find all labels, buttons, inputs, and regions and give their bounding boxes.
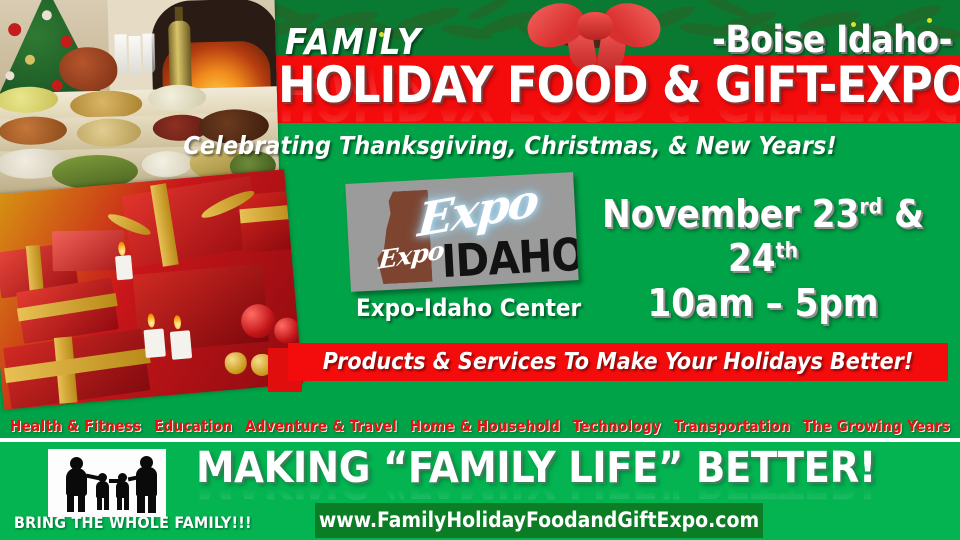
wrapped-gifts-photo [0,169,303,409]
category-home-household[interactable]: Home & Household [410,417,560,435]
date-prefix: November 23 [602,192,859,236]
category-strip: Health & Fitness Education Adventure & T… [0,412,960,440]
event-dates: November 23rd & 24th 10am – 5pm [566,192,960,325]
jingle-bell [224,351,248,375]
subtitle: Celebrating Thanksgiving, Christmas, & N… [0,131,960,160]
website-url: www.FamilyHolidayFoodandGiftExpo.com [315,503,763,538]
venue-name: Expo-Idaho Center [356,294,581,322]
promo-red-bar: Products & Services To Make Your Holiday… [288,343,948,381]
website-url-box[interactable]: www.FamilyHolidayFoodandGiftExpo.com [315,503,763,538]
category-health-fitness[interactable]: Health & Fitness [10,417,141,435]
category-adventure-travel[interactable]: Adventure & Travel [245,417,397,435]
promo-text: Products & Services To Make Your Holiday… [288,343,948,381]
event-hours: 10am – 5pm [566,281,960,325]
ornament-ball [273,317,301,345]
candle [115,255,133,280]
category-technology[interactable]: Technology [573,417,661,435]
date-ordinal-1: rd [859,194,882,218]
candle [144,328,166,358]
family-silhouette-photo [48,449,166,517]
location-label: -Boise Idaho- [712,18,952,61]
event-date-line: November 23rd & 24th [566,192,960,281]
candle [170,330,192,360]
tagline: MAKING “FAMILY LIFE” BETTER! [196,443,876,493]
date-ordinal-2: th [776,239,799,263]
holiday-expo-banner: FAMILY FAMILY -Boise Idaho- HOLIDAY FOOD… [0,0,960,540]
expo-idaho-logo: Expo Expo IDAHO [345,172,578,292]
logo-idaho-wordmark: IDAHO [440,228,579,288]
main-title: HOLIDAY FOOD & GIFT-EXPO! [278,56,956,114]
holiday-feast-photo [0,0,280,203]
bring-family-note: BRING THE WHOLE FAMILY!!! [14,513,252,532]
category-transportation[interactable]: Transportation [674,417,790,435]
category-growing-years[interactable]: The Growing Years [803,417,950,435]
candle-flame [118,241,126,256]
red-bow-decoration [525,2,665,64]
category-education[interactable]: Education [154,417,232,435]
